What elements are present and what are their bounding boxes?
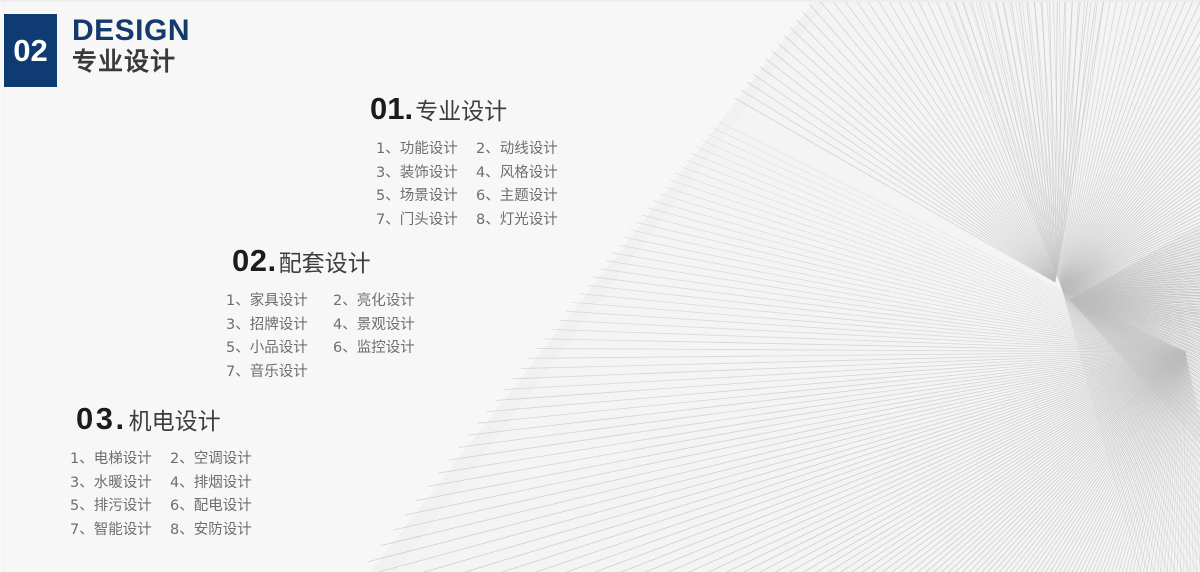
item-left: 5、场景设计 [376, 185, 464, 209]
slide-header: 02 DESIGN 专业设计 [4, 14, 190, 87]
item-right: 6、配电设计 [170, 495, 252, 519]
list-item: 3、装饰设计 4、风格设计 [376, 162, 558, 186]
item-left: 1、电梯设计 [70, 448, 158, 472]
section-number: 02. [232, 245, 277, 276]
section-item-list: 1、功能设计 2、动线设计 3、装饰设计 4、风格设计 5、场景设计 6、主题设… [376, 138, 558, 232]
item-left: 3、招牌设计 [226, 314, 321, 338]
list-item: 5、小品设计 6、监控设计 [226, 337, 415, 361]
item-right: 2、动线设计 [476, 138, 558, 162]
item-left: 7、门头设计 [376, 209, 464, 233]
section-item-list: 1、家具设计 2、亮化设计 3、招牌设计 4、景观设计 5、小品设计 6、监控设… [226, 290, 415, 384]
item-right: 4、景观设计 [333, 314, 415, 338]
item-left: 7、音乐设计 [226, 361, 321, 385]
item-right: 4、风格设计 [476, 162, 558, 186]
list-item: 5、排污设计 6、配电设计 [70, 495, 252, 519]
section-title: 专业设计 [415, 101, 507, 124]
content-section-02: 02. 配套设计 1、家具设计 2、亮化设计 3、招牌设计 4、景观设计 5、小… [232, 245, 415, 384]
item-right: 2、亮化设计 [333, 290, 415, 314]
title-english: DESIGN [72, 15, 190, 46]
list-item: 1、功能设计 2、动线设计 [376, 138, 558, 162]
slide-canvas: 02 DESIGN 专业设计 01. 专业设计 1、功能设计 2、动线设计 3、… [0, 0, 1200, 572]
item-left: 7、智能设计 [70, 519, 158, 543]
list-item: 7、门头设计 8、灯光设计 [376, 209, 558, 233]
section-number: 03. [76, 403, 127, 434]
list-item: 5、场景设计 6、主题设计 [376, 185, 558, 209]
item-left: 1、家具设计 [226, 290, 321, 314]
list-item: 1、电梯设计 2、空调设计 [70, 448, 252, 472]
item-right: 8、灯光设计 [476, 209, 558, 233]
top-hairline [0, 0, 1200, 2]
title-chinese: 专业设计 [72, 47, 190, 77]
content-section-01: 01. 专业设计 1、功能设计 2、动线设计 3、装饰设计 4、风格设计 5、场… [370, 93, 558, 232]
item-right: 6、主题设计 [476, 185, 558, 209]
section-number-badge: 02 [4, 14, 57, 87]
item-left: 1、功能设计 [376, 138, 464, 162]
list-item: 3、招牌设计 4、景观设计 [226, 314, 415, 338]
section-heading: 01. 专业设计 [370, 93, 558, 124]
item-left: 3、水暖设计 [70, 472, 158, 496]
section-item-list: 1、电梯设计 2、空调设计 3、水暖设计 4、排烟设计 5、排污设计 6、配电设… [70, 448, 252, 542]
list-item: 1、家具设计 2、亮化设计 [226, 290, 415, 314]
title-block: DESIGN 专业设计 [72, 15, 190, 77]
list-item: 3、水暖设计 4、排烟设计 [70, 472, 252, 496]
item-left: 5、小品设计 [226, 337, 321, 361]
item-left: 3、装饰设计 [376, 162, 464, 186]
item-left: 5、排污设计 [70, 495, 158, 519]
list-item: 7、智能设计 8、安防设计 [70, 519, 252, 543]
section-title: 机电设计 [129, 411, 221, 434]
item-right: 6、监控设计 [333, 337, 415, 361]
list-item: 7、音乐设计 [226, 361, 415, 385]
badge-number-label: 02 [13, 35, 47, 66]
section-number: 01. [370, 93, 413, 124]
section-heading: 03. 机电设计 [76, 403, 252, 434]
item-right: 8、安防设计 [170, 519, 252, 543]
section-title: 配套设计 [279, 253, 371, 276]
item-right: 4、排烟设计 [170, 472, 252, 496]
item-right: 2、空调设计 [170, 448, 252, 472]
section-heading: 02. 配套设计 [232, 245, 415, 276]
content-section-03: 03. 机电设计 1、电梯设计 2、空调设计 3、水暖设计 4、排烟设计 5、排… [76, 403, 252, 542]
